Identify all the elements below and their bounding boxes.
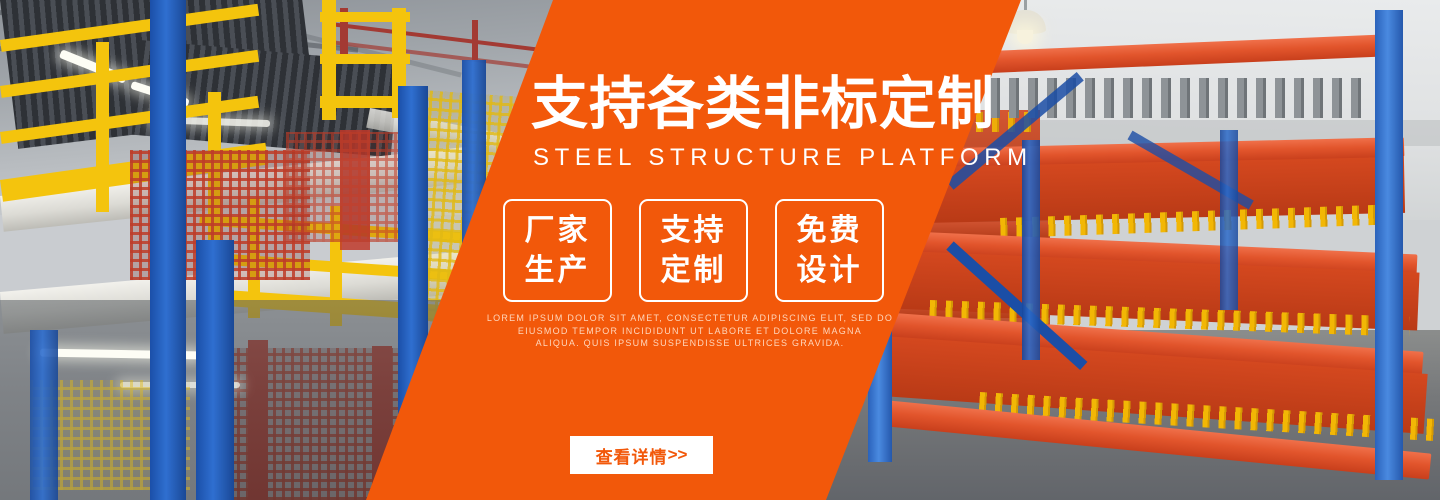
cta-label: 查看详情 <box>596 443 668 468</box>
feature-badge-free-design[interactable]: 免费 设计 <box>775 199 884 302</box>
view-details-button[interactable]: 查看详情>> <box>570 436 713 474</box>
feature-badge-manufacturer[interactable]: 厂家 生产 <box>503 199 612 302</box>
page-title: 支持各类非标定制 <box>531 73 1001 135</box>
badge-line-2: 定制 <box>661 251 727 291</box>
description-line-3: ALIQUA. QUIS IPSUM SUSPENDISSE ULTRICES … <box>440 337 940 350</box>
promo-banner: 支持各类非标定制 STEEL STRUCTURE PLATFORM 厂家 生产 … <box>0 0 1440 500</box>
badge-line-1: 厂家 <box>525 211 591 251</box>
page-subtitle: STEEL STRUCTURE PLATFORM <box>533 144 1003 172</box>
feature-badge-customization[interactable]: 支持 定制 <box>639 199 748 302</box>
description-line-1: LOREM IPSUM DOLOR SIT AMET, CONSECTETUR … <box>440 312 940 325</box>
badge-line-2: 生产 <box>525 251 591 291</box>
banner-content: 支持各类非标定制 STEEL STRUCTURE PLATFORM 厂家 生产 … <box>0 0 1440 500</box>
cta-arrow-icon: >> <box>668 445 688 465</box>
description-line-2: EIUSMOD TEMPOR INCIDIDUNT UT LABORE ET D… <box>440 325 940 338</box>
badge-line-2: 设计 <box>797 251 863 291</box>
badge-line-1: 免费 <box>797 211 863 251</box>
description-text: LOREM IPSUM DOLOR SIT AMET, CONSECTETUR … <box>440 312 940 350</box>
feature-badge-list: 厂家 生产 支持 定制 免费 设计 <box>503 199 884 302</box>
badge-line-1: 支持 <box>661 211 727 251</box>
